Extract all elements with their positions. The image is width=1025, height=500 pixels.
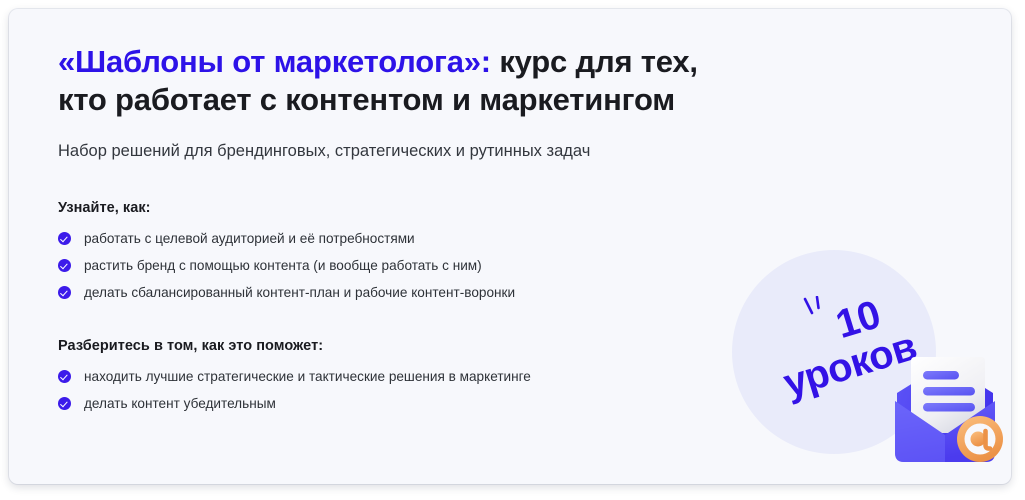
check-circle-icon [58, 397, 71, 410]
page-title: «Шаблоны от маркетолога»: курс для тех, … [58, 43, 788, 119]
letter-line [923, 403, 975, 412]
subtitle: Набор решений для брендинговых, стратеги… [58, 140, 788, 162]
list-item-label: работать с целевой аудиторией и её потре… [84, 229, 415, 248]
check-circle-icon [58, 259, 71, 272]
check-circle-icon [58, 370, 71, 383]
list-item: находить лучшие стратегические и тактиче… [58, 366, 788, 386]
letter-line [923, 371, 959, 380]
list-item: делать сбалансированный контент-план и р… [58, 282, 788, 302]
envelope-illustration [881, 341, 1009, 467]
list-item: растить бренд с помощью контента (и вооб… [58, 255, 788, 275]
list-item-label: находить лучшие стратегические и тактиче… [84, 367, 531, 386]
list-item: работать с целевой аудиторией и её потре… [58, 228, 788, 248]
check-circle-icon [58, 232, 71, 245]
benefit-list: находить лучшие стратегические и тактиче… [58, 366, 788, 413]
headline-accent-part: «Шаблоны от маркетолога»: [58, 44, 491, 79]
content-column: «Шаблоны от маркетолога»: курс для тех, … [58, 43, 788, 413]
section-title: Разберитесь в том, как это поможет: [58, 338, 788, 354]
list-item-label: делать контент убедительным [84, 394, 276, 413]
letter-line [923, 387, 975, 396]
list-item-label: делать сбалансированный контент-план и р… [84, 283, 515, 302]
benefit-list: работать с целевой аудиторией и её потре… [58, 228, 788, 302]
list-item-label: растить бренд с помощью контента (и вооб… [84, 256, 482, 275]
section-understand-benefits: Разберитесь в том, как это поможет: нахо… [58, 338, 788, 413]
page-root: «Шаблоны от маркетолога»: курс для тех, … [0, 0, 1025, 500]
check-circle-icon [58, 286, 71, 299]
list-item: делать контент убедительным [58, 393, 788, 413]
section-learn-how: Узнайте, как: работать с целевой аудитор… [58, 200, 788, 302]
promo-card: «Шаблоны от маркетолога»: курс для тех, … [9, 9, 1011, 484]
at-symbol-icon [957, 416, 1003, 462]
section-title: Узнайте, как: [58, 200, 788, 216]
